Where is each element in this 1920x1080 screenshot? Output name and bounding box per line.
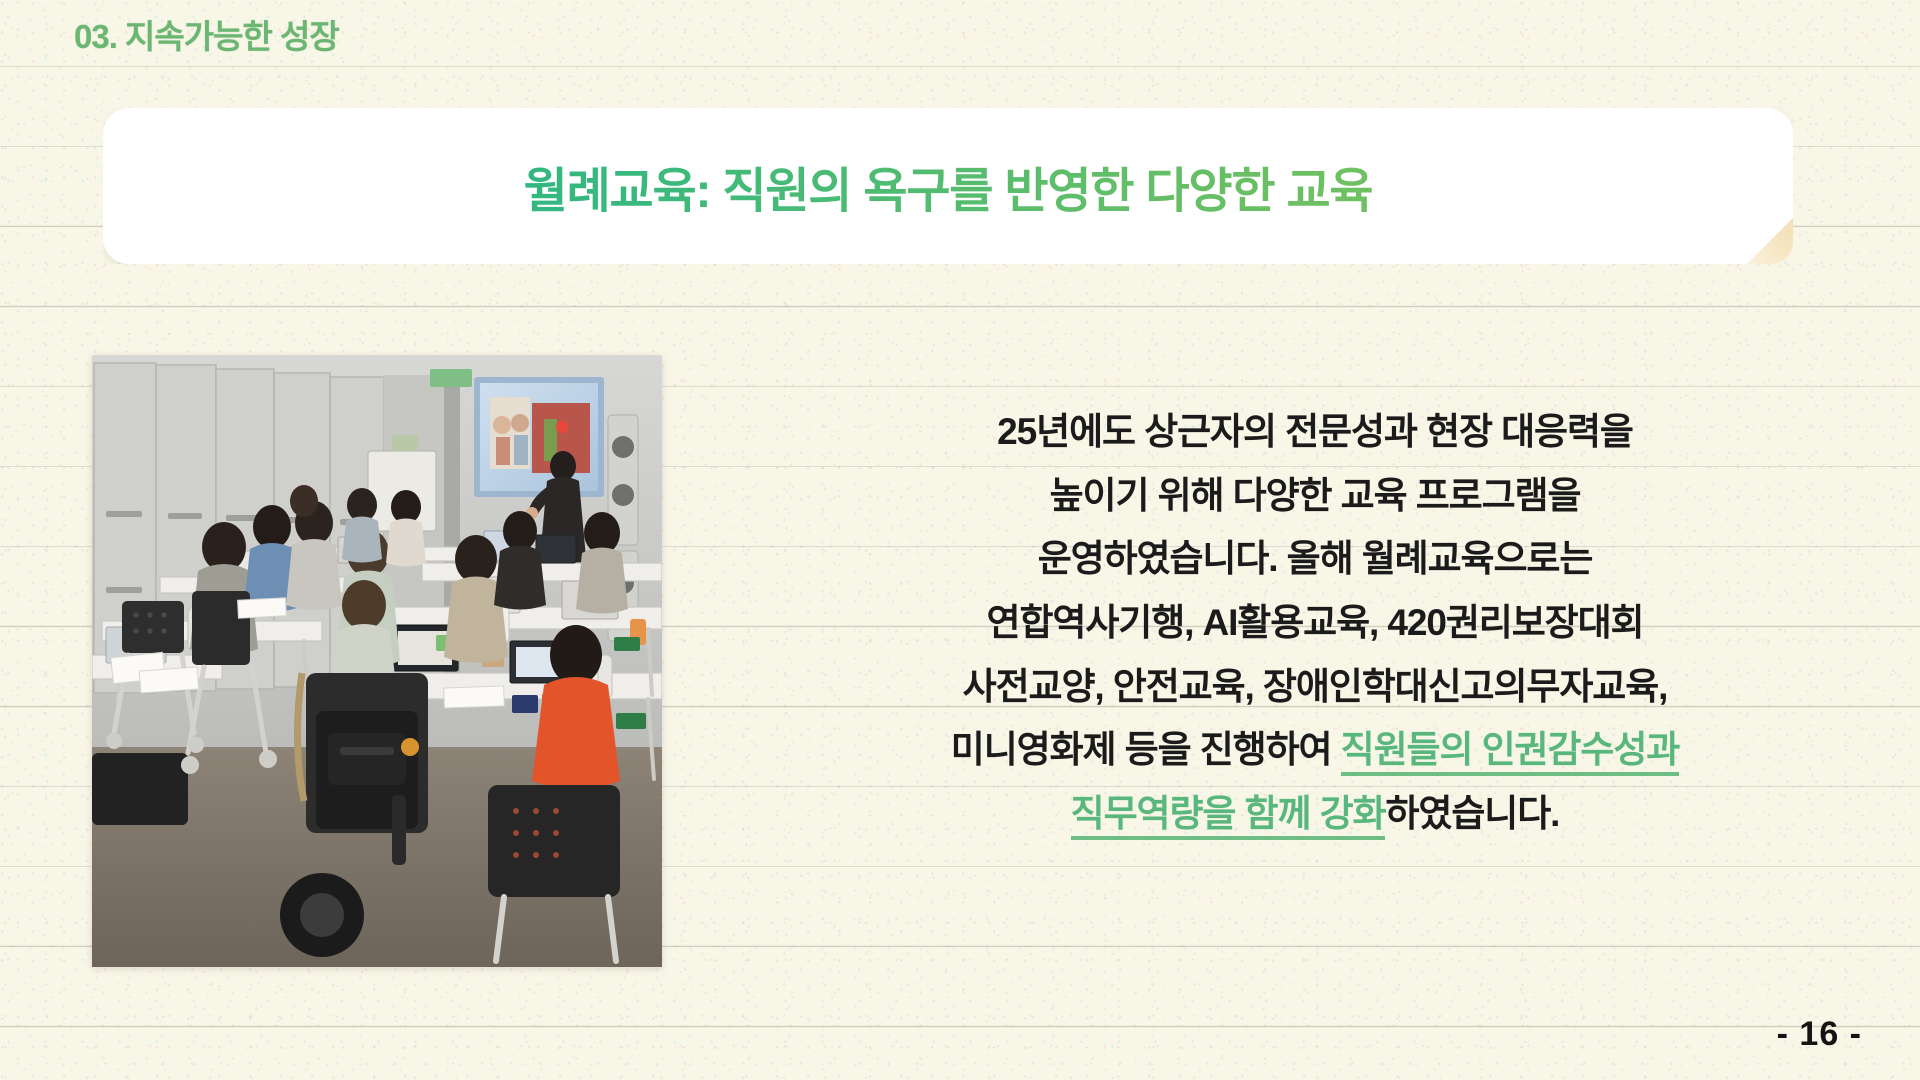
- slide-title: 월례교육: 직원의 욕구를 반영한 다양한 교육: [103, 151, 1793, 221]
- body-line-1: 25년에도 상근자의 전문성과 현장 대응력을: [800, 400, 1830, 464]
- body-line-2: 높이기 위해 다양한 교육 프로그램을: [800, 464, 1830, 528]
- body-line-7-plain: 하였습니다.: [1385, 793, 1559, 834]
- photo-illustration: [92, 355, 662, 967]
- title-card: 월례교육: 직원의 욕구를 반영한 다양한 교육: [103, 108, 1793, 264]
- page-number: - 16 -: [1777, 1015, 1862, 1054]
- body-line-6-plain: 미니영화제 등을 진행하여: [951, 729, 1341, 770]
- body-line-6: 미니영화제 등을 진행하여 직원들의 인권감수성과: [800, 718, 1830, 782]
- section-header: 03. 지속가능한 성장: [74, 10, 339, 58]
- body-line-6-highlight: 직원들의 인권감수성과: [1341, 729, 1680, 776]
- body-line-4: 연합역사기행, AI활용교육, 420권리보장대회: [800, 591, 1830, 655]
- presentation-slide: 03. 지속가능한 성장 월례교육: 직원의 욕구를 반영한 다양한 교육: [0, 0, 1920, 1080]
- training-classroom-photo: [92, 355, 662, 967]
- body-line-7: 직무역량을 함께 강화하였습니다.: [800, 782, 1830, 846]
- body-line-3: 운영하였습니다. 올해 월례교육으로는: [800, 527, 1830, 591]
- body-paragraph: 25년에도 상근자의 전문성과 현장 대응력을 높이기 위해 다양한 교육 프로…: [800, 400, 1830, 845]
- body-line-7-highlight: 직무역량을 함께 강화: [1071, 793, 1386, 840]
- body-line-5: 사전교양, 안전교육, 장애인학대신고의무자교육,: [800, 655, 1830, 719]
